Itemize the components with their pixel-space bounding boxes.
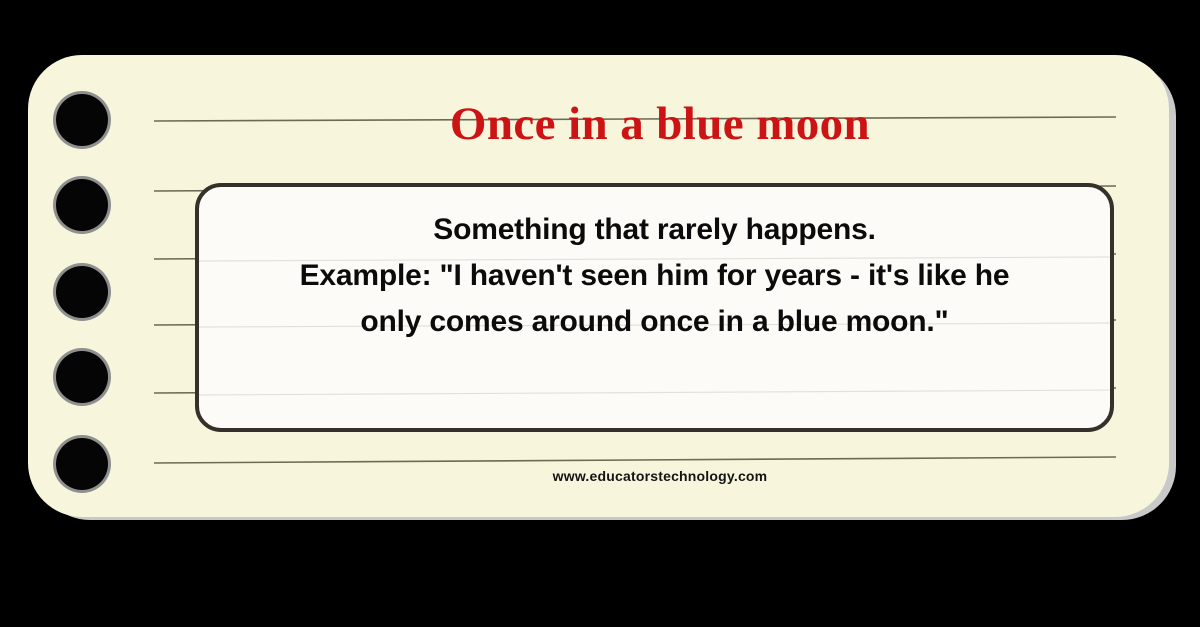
punch-hole-icon — [56, 179, 108, 231]
footer-website-url: www.educatorstechnology.com — [200, 468, 1120, 484]
punch-hole-icon — [56, 438, 108, 490]
punch-hole-icon — [56, 351, 108, 403]
notebook-idiom-card: Once in a blue moon Something that rarel… — [0, 0, 1200, 627]
definition-text: Something that rarely happens. Example: … — [199, 187, 1110, 345]
definition-line-2: Example: "I haven't seen him for years -… — [221, 253, 1088, 299]
idiom-title: Once in a blue moon — [200, 96, 1120, 152]
definition-line-3: only comes around once in a blue moon." — [221, 299, 1088, 345]
punch-hole-icon — [56, 94, 108, 146]
punch-hole-icon — [56, 266, 108, 318]
definition-card: Something that rarely happens. Example: … — [195, 183, 1114, 432]
definition-line-1: Something that rarely happens. — [221, 207, 1088, 253]
